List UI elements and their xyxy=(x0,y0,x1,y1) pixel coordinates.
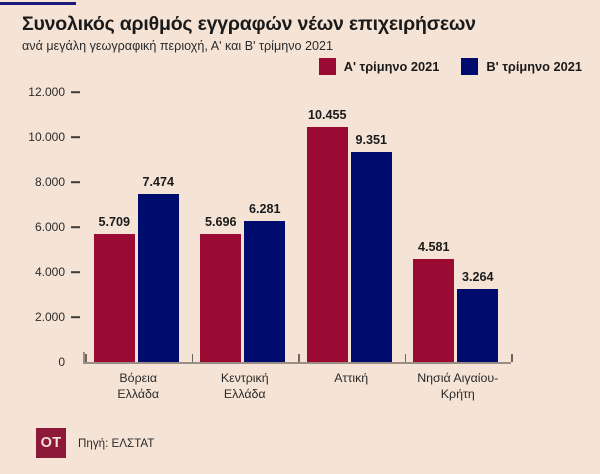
chart-plot-area: 02.0004.0006.0008.00010.00012.0005.7097.… xyxy=(0,0,600,474)
y-axis-tick-label: 12.000 xyxy=(7,85,65,99)
y-axis-tick-mark xyxy=(71,271,80,273)
bar-value-label: 10.455 xyxy=(308,108,347,122)
x-axis-line xyxy=(83,362,511,364)
y-axis-tick-label: 2.000 xyxy=(7,310,65,324)
bar-value-label: 5.709 xyxy=(98,215,130,229)
ot-logo: OT xyxy=(36,428,66,458)
bar-value-label: 5.696 xyxy=(205,215,237,229)
y-axis-tick-label: 0 xyxy=(7,355,65,369)
category-label-line: Νησιά Αιγαίου- xyxy=(417,370,498,386)
bar-value-label: 6.281 xyxy=(249,202,281,216)
source-label: Πηγή: ΕΛΣΤΑΤ xyxy=(78,437,154,450)
bar-value-label: 9.351 xyxy=(355,133,387,147)
bar[interactable] xyxy=(413,259,454,362)
bar[interactable] xyxy=(244,221,285,362)
bar-value-label: 3.264 xyxy=(462,270,494,284)
category-label-line: Κρήτη xyxy=(417,386,498,402)
bar-value-label: 7.474 xyxy=(142,175,174,189)
y-axis-tick-label: 4.000 xyxy=(7,265,65,279)
y-axis-tick-mark xyxy=(71,226,80,228)
x-axis-category-label: ΒόρειαΕλλάδα xyxy=(117,370,159,402)
bar[interactable] xyxy=(307,127,348,362)
bar[interactable] xyxy=(94,234,135,362)
bar[interactable] xyxy=(138,194,179,362)
y-axis-tick-label: 10.000 xyxy=(7,130,65,144)
y-axis-tick-mark xyxy=(71,316,80,318)
bar-value-label: 4.581 xyxy=(418,240,450,254)
category-label-line: Ελλάδα xyxy=(117,386,159,402)
x-axis-tick-mark xyxy=(405,354,407,362)
category-label-line: Ελλάδα xyxy=(221,386,269,402)
y-axis-tick-mark xyxy=(71,181,80,183)
y-axis-tick-mark xyxy=(71,136,80,138)
category-label-line: Κεντρική xyxy=(221,370,269,386)
bar[interactable] xyxy=(351,152,392,362)
x-axis-tick-mark xyxy=(192,354,194,362)
bar[interactable] xyxy=(457,289,498,362)
bar[interactable] xyxy=(200,234,241,362)
x-axis-tick-mark xyxy=(298,354,300,362)
chart-footer: OT Πηγή: ΕΛΣΤΑΤ xyxy=(36,428,154,458)
x-axis-category-label: ΚεντρικήΕλλάδα xyxy=(221,370,269,402)
y-axis-tick-label: 8.000 xyxy=(7,175,65,189)
x-axis-tick-mark-end xyxy=(511,354,513,362)
category-label-line: Αττική xyxy=(334,370,368,386)
x-axis-category-label: Νησιά Αιγαίου-Κρήτη xyxy=(417,370,498,402)
category-label-line: Βόρεια xyxy=(117,370,159,386)
x-axis-category-label: Αττική xyxy=(334,370,368,386)
x-axis-tick-mark xyxy=(85,354,87,362)
y-axis-tick-mark xyxy=(71,91,80,93)
y-axis-tick-label: 6.000 xyxy=(7,220,65,234)
